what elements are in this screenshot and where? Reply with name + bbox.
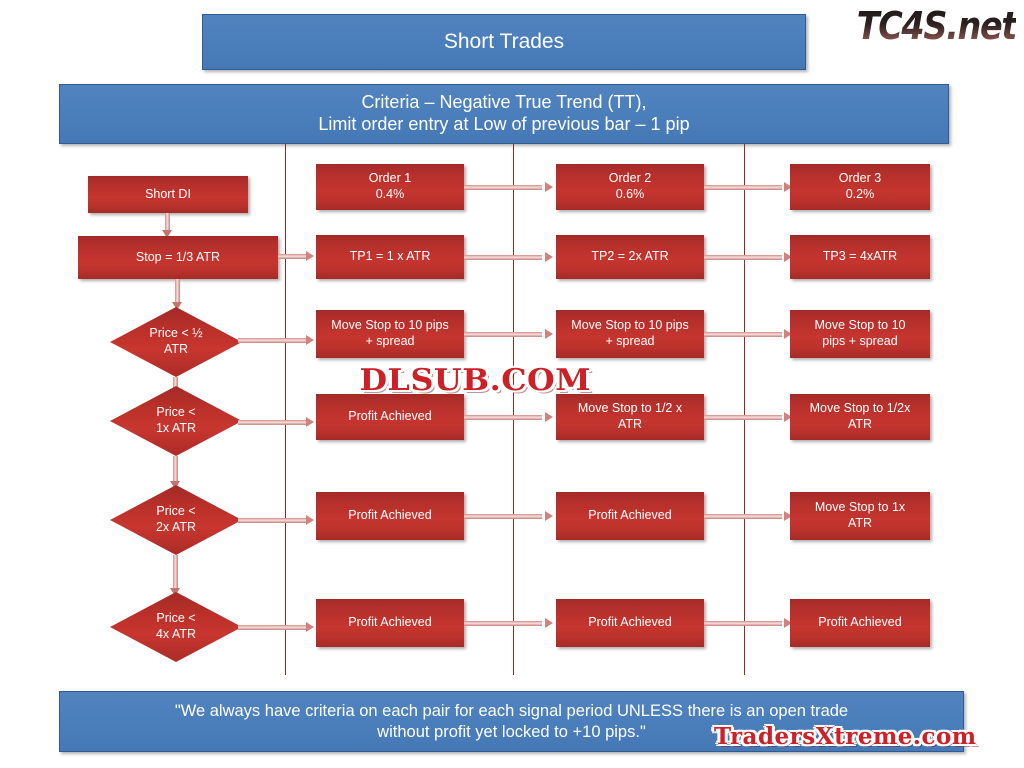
node-order-2-text: Order 2 0.6% bbox=[604, 171, 656, 202]
arrow-decision2-action2-icon bbox=[306, 417, 314, 427]
footer-quote-line-1: "We always have criteria on each pair fo… bbox=[175, 701, 848, 721]
action-r2c1-line-1: Profit Achieved bbox=[348, 409, 431, 425]
decision-4-line-2: 4x ATR bbox=[156, 627, 196, 643]
tc4s-brand-logo: TC4S.net bbox=[857, 4, 1016, 48]
node-tp-2-label: TP2 = 2x ATR bbox=[586, 249, 673, 265]
action-r2c2-line-2: ATR bbox=[578, 417, 682, 433]
decision-2-line-1: Price < bbox=[156, 405, 196, 421]
node-tp-3[interactable]: TP3 = 4xATR bbox=[790, 235, 930, 279]
connector-decision1-action1 bbox=[238, 338, 308, 343]
node-stop-label: Stop = 1/3 ATR bbox=[131, 250, 225, 266]
node-action-r2c3[interactable]: Move Stop to 1/2x ATR bbox=[790, 394, 930, 440]
decision-3-line-1: Price < bbox=[156, 504, 196, 520]
order-2-size: 0.6% bbox=[609, 187, 651, 203]
node-action-r3c2-text: Profit Achieved bbox=[583, 508, 676, 524]
criteria-line-2: Limit order entry at Low of previous bar… bbox=[318, 114, 689, 136]
action-r3c2-line-1: Profit Achieved bbox=[588, 508, 671, 524]
decision-price-2x-atr[interactable]: Price < 2x ATR bbox=[110, 485, 242, 555]
connector-action-r3-c2-c3 bbox=[704, 514, 782, 519]
connector-action-r1-c1-c2 bbox=[464, 332, 542, 337]
connector-action-r3-c1-c2 bbox=[464, 514, 542, 519]
decision-price-1x-atr[interactable]: Price < 1x ATR bbox=[110, 386, 242, 456]
node-action-r3c1[interactable]: Profit Achieved bbox=[316, 492, 464, 540]
action-r1c2-line-2: + spread bbox=[571, 334, 688, 350]
node-tp-2[interactable]: TP2 = 2x ATR bbox=[556, 235, 704, 279]
connector-stop-to-tp1 bbox=[278, 254, 308, 259]
node-action-r4c2-text: Profit Achieved bbox=[583, 615, 676, 631]
node-action-r1c2[interactable]: Move Stop to 10 pips + spread bbox=[556, 310, 704, 358]
connector-decision2-action2 bbox=[238, 420, 308, 425]
slide-title-text: Short Trades bbox=[434, 29, 574, 55]
node-action-r3c3[interactable]: Move Stop to 1x ATR bbox=[790, 492, 930, 540]
node-action-r1c1[interactable]: Move Stop to 10 pips + spread bbox=[316, 310, 464, 358]
decision-2-line-2: 1x ATR bbox=[156, 421, 196, 437]
connector-action-r2-c2-c3 bbox=[704, 415, 782, 420]
node-action-r4c3[interactable]: Profit Achieved bbox=[790, 599, 930, 647]
decision-1-line-2: ATR bbox=[149, 342, 202, 358]
connector-action-r1-c2-c3 bbox=[704, 332, 782, 337]
arrow-action-r1-c1-c2-icon bbox=[545, 329, 553, 339]
column-divider-2 bbox=[513, 144, 514, 675]
action-r3c1-line-1: Profit Achieved bbox=[348, 508, 431, 524]
order-3-size: 0.2% bbox=[839, 187, 881, 203]
node-order-3-text: Order 3 0.2% bbox=[834, 171, 886, 202]
connector-order1-order2 bbox=[464, 185, 542, 190]
connector-tp1-tp2 bbox=[464, 255, 542, 260]
action-r4c1-line-1: Profit Achieved bbox=[348, 615, 431, 631]
order-1-size: 0.4% bbox=[369, 187, 411, 203]
arrow-order1-order2-icon bbox=[545, 182, 553, 192]
decision-1-line-1: Price < ½ bbox=[149, 326, 202, 342]
node-tp-1[interactable]: TP1 = 1 x ATR bbox=[316, 235, 464, 279]
tradersxtreme-logo: TradersXtreme.com bbox=[714, 723, 977, 750]
arrow-tp1-tp2-icon bbox=[545, 252, 553, 262]
node-action-r4c3-text: Profit Achieved bbox=[813, 615, 906, 631]
connector-decision4-action4 bbox=[238, 625, 308, 630]
decision-2-label: Price < 1x ATR bbox=[110, 386, 242, 456]
order-2-name: Order 2 bbox=[609, 171, 651, 187]
decision-price-half-atr[interactable]: Price < ½ ATR bbox=[110, 307, 242, 377]
column-divider-3 bbox=[744, 144, 745, 675]
arrow-action-r3-c1-c2-icon bbox=[545, 511, 553, 521]
criteria-text: Criteria – Negative True Trend (TT), Lim… bbox=[308, 92, 699, 136]
arrow-action-r2-c1-c2-icon bbox=[545, 412, 553, 422]
node-short-di-label: Short DI bbox=[140, 187, 196, 203]
node-action-r1c2-text: Move Stop to 10 pips + spread bbox=[566, 318, 693, 349]
action-r4c3-line-1: Profit Achieved bbox=[818, 615, 901, 631]
node-short-di[interactable]: Short DI bbox=[88, 176, 248, 213]
node-action-r2c3-text: Move Stop to 1/2x ATR bbox=[805, 401, 916, 432]
node-stop[interactable]: Stop = 1/3 ATR bbox=[78, 236, 278, 279]
slide-canvas: TC4S.net Short Trades Criteria – Negativ… bbox=[0, 0, 1024, 768]
node-action-r1c3[interactable]: Move Stop to 10 pips + spread bbox=[790, 310, 930, 358]
decision-1-label: Price < ½ ATR bbox=[110, 307, 242, 377]
action-r1c3-line-2: pips + spread bbox=[814, 334, 905, 350]
action-r1c3-line-1: Move Stop to 10 bbox=[814, 318, 905, 334]
action-r3c3-line-1: Move Stop to 1x bbox=[815, 500, 905, 516]
decision-4-line-1: Price < bbox=[156, 611, 196, 627]
node-action-r4c1-text: Profit Achieved bbox=[343, 615, 436, 631]
order-1-name: Order 1 bbox=[369, 171, 411, 187]
node-order-1-text: Order 1 0.4% bbox=[364, 171, 416, 202]
decision-price-4x-atr[interactable]: Price < 4x ATR bbox=[110, 592, 242, 662]
node-tp-1-label: TP1 = 1 x ATR bbox=[345, 249, 436, 265]
action-r1c1-line-2: + spread bbox=[331, 334, 448, 350]
action-r1c1-line-1: Move Stop to 10 pips bbox=[331, 318, 448, 334]
node-order-2[interactable]: Order 2 0.6% bbox=[556, 164, 704, 210]
action-r3c3-line-2: ATR bbox=[815, 516, 905, 532]
connector-action-r2-c1-c2 bbox=[464, 415, 542, 420]
node-tp-3-label: TP3 = 4xATR bbox=[818, 249, 902, 265]
decision-4-label: Price < 4x ATR bbox=[110, 592, 242, 662]
node-action-r2c1-text: Profit Achieved bbox=[343, 409, 436, 425]
node-action-r3c2[interactable]: Profit Achieved bbox=[556, 492, 704, 540]
arrow-stop-to-tp1-icon bbox=[306, 251, 314, 261]
arrow-decision4-action4-icon bbox=[306, 622, 314, 632]
node-action-r2c2-text: Move Stop to 1/2 x ATR bbox=[573, 401, 687, 432]
node-action-r3c1-text: Profit Achieved bbox=[343, 508, 436, 524]
arrow-decision1-action1-icon bbox=[306, 335, 314, 345]
dlsub-watermark: DLSUB.COM bbox=[359, 363, 591, 398]
action-r4c2-line-1: Profit Achieved bbox=[588, 615, 671, 631]
connector-order2-order3 bbox=[704, 185, 782, 190]
arrow-decision3-action3-icon bbox=[306, 515, 314, 525]
node-action-r2c2[interactable]: Move Stop to 1/2 x ATR bbox=[556, 394, 704, 440]
node-action-r4c1[interactable]: Profit Achieved bbox=[316, 599, 464, 647]
criteria-banner: Criteria – Negative True Trend (TT), Lim… bbox=[59, 84, 949, 144]
node-order-3[interactable]: Order 3 0.2% bbox=[790, 164, 930, 210]
action-r2c2-line-1: Move Stop to 1/2 x bbox=[578, 401, 682, 417]
connector-decision3-action3 bbox=[238, 518, 308, 523]
column-divider-1 bbox=[285, 144, 286, 675]
order-3-name: Order 3 bbox=[839, 171, 881, 187]
node-order-1[interactable]: Order 1 0.4% bbox=[316, 164, 464, 210]
node-action-r2c1[interactable]: Profit Achieved bbox=[316, 394, 464, 440]
node-action-r4c2[interactable]: Profit Achieved bbox=[556, 599, 704, 647]
node-action-r1c3-text: Move Stop to 10 pips + spread bbox=[809, 318, 910, 349]
decision-3-line-2: 2x ATR bbox=[156, 520, 196, 536]
action-r2c3-line-2: ATR bbox=[810, 417, 911, 433]
action-r2c3-line-1: Move Stop to 1/2x bbox=[810, 401, 911, 417]
node-action-r1c1-text: Move Stop to 10 pips + spread bbox=[326, 318, 453, 349]
node-action-r3c3-text: Move Stop to 1x ATR bbox=[810, 500, 910, 531]
arrow-action-r4-c1-c2-icon bbox=[545, 618, 553, 628]
connector-decision-3-to-4 bbox=[173, 555, 178, 591]
criteria-line-1: Criteria – Negative True Trend (TT), bbox=[318, 92, 689, 114]
decision-3-label: Price < 2x ATR bbox=[110, 485, 242, 555]
action-r1c2-line-1: Move Stop to 10 pips bbox=[571, 318, 688, 334]
connector-action-r4-c2-c3 bbox=[704, 621, 782, 626]
connector-action-r4-c1-c2 bbox=[464, 621, 542, 626]
connector-tp2-tp3 bbox=[704, 255, 782, 260]
slide-title-banner: Short Trades bbox=[202, 14, 806, 70]
